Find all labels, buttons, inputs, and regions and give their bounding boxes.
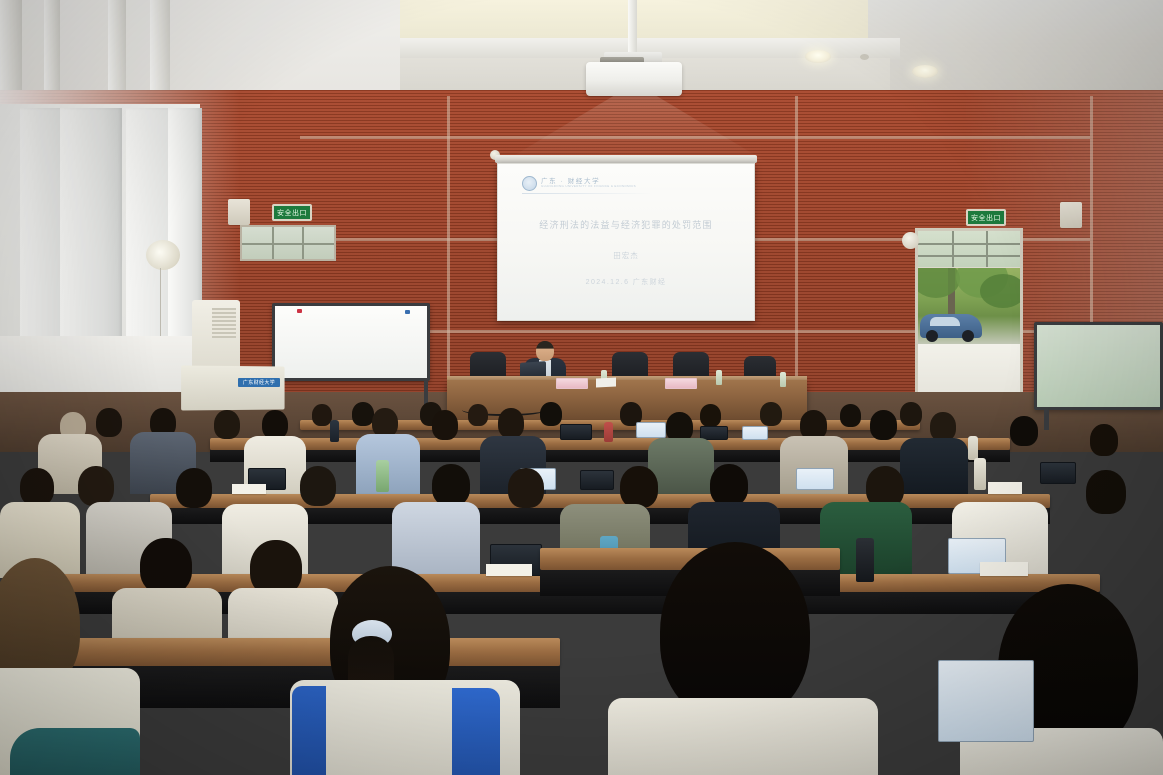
paper-stack [980,562,1028,576]
audience-head [78,466,114,506]
slide-author: 田宏杰 [498,250,754,261]
ceiling-projector [586,62,682,96]
wall-fan-icon [146,240,180,270]
desk-row [0,638,560,666]
laptop [560,424,592,440]
audience-torso [900,438,968,498]
audience-head [312,404,332,426]
name-placard [665,378,697,389]
car-wheel [962,330,974,342]
slide-title: 经济刑法的法益与经济犯罪的处罚范围 [498,218,754,231]
paper-stack [486,564,532,576]
sprinkler-icon [860,54,869,60]
audience-head [96,408,122,437]
audience-head [710,464,748,506]
audience-area [0,398,1163,775]
outdoor-view [918,268,1020,348]
laptop [636,422,666,438]
whiteboard-magnet [297,309,302,313]
whiteboard-left [272,303,430,381]
paper-stack [988,482,1022,494]
audience-head [20,468,54,506]
downlight-icon [805,50,831,63]
car-window [930,317,960,326]
audience-head [262,410,288,439]
laptop [580,470,614,490]
audience-head [432,464,470,506]
audience-head [660,542,810,722]
audience-head [1086,470,1126,514]
laptop [796,468,834,490]
desk-front-panel [210,450,1010,462]
audience-head [352,402,374,426]
water-bottle [780,372,786,387]
audience-head [760,402,782,426]
university-emblem-icon [522,176,537,191]
projection-screen: 广东 · 财经大学 GUANGDONG UNIVERSITY OF FINANC… [497,163,755,321]
downlight-icon [912,65,938,78]
audience-head [214,410,240,439]
audience-head [372,408,398,437]
audience-scarf [10,728,140,775]
audience-head [1090,424,1118,456]
wall-grout-line [795,96,798,416]
wall-speaker [1060,202,1082,228]
audience-torso [608,698,878,775]
university-logo: 广东 · 财经大学 GUANGDONG UNIVERSITY OF FINANC… [522,176,636,191]
lecture-hall-photo: 安全出口 安全出口 广东 · 财经大学 GUANGDONG UNIVERSITY… [0,0,1163,775]
wall-sensor-icon [902,232,919,249]
whiteboard-magnet [405,310,410,314]
left-transom-window [240,225,336,261]
laptop [1040,462,1076,484]
thermos-bottle [974,458,986,490]
audience-head [432,410,458,440]
logo-text-en: GUANGDONG UNIVERSITY OF FINANCE & ECONOM… [541,185,636,188]
audience-head [468,404,488,426]
water-bottle [716,370,722,385]
thermos-bottle [604,422,613,442]
fan-pull-cord [160,268,161,336]
air-conditioner-grille [212,308,236,338]
tablet [742,426,768,440]
audience-head [840,404,861,427]
audience-head [300,466,336,506]
audience-head [498,408,524,438]
audience-head [176,468,212,508]
tablet-screen [938,660,1034,742]
audience-vest [292,686,326,775]
projector-mount-pole [628,0,637,58]
wall-grout-line [447,96,450,416]
thermos-bottle [376,460,389,492]
paper-stack [232,484,266,494]
audience-vest [452,688,500,775]
audience-head [620,466,658,508]
audience-head [540,402,562,426]
audience-head [508,468,544,508]
audience-head [1010,416,1038,446]
doorway-transom-window [918,231,1020,267]
window-blind [60,108,122,358]
exit-sign-right: 安全出口 [966,209,1006,226]
thermos-bottle [330,420,339,442]
audience-head [900,402,922,426]
exit-sign-left: 安全出口 [272,204,312,221]
slide-date-venue: 2024.12.6 广东财经 [498,277,754,287]
thermos-bottle [856,538,874,582]
parked-car [920,314,982,338]
wall-speaker [228,199,250,225]
name-placard [556,378,588,389]
whiteboard-right [1034,322,1163,410]
podium-logo: 广东财经大学 [238,378,280,387]
slide-divider [522,193,654,194]
audience-head [140,538,192,594]
audience-head [930,412,956,441]
projection-screen-case [495,155,757,163]
car-wheel [926,330,938,342]
stage-papers [596,377,616,387]
foliage [980,274,1020,308]
audience-head [870,410,897,440]
speaker-head [536,341,554,361]
presentation-slide: 广东 · 财经大学 GUANGDONG UNIVERSITY OF FINANC… [498,164,754,320]
thermos-bottle [968,436,978,460]
audience-head [700,404,721,427]
